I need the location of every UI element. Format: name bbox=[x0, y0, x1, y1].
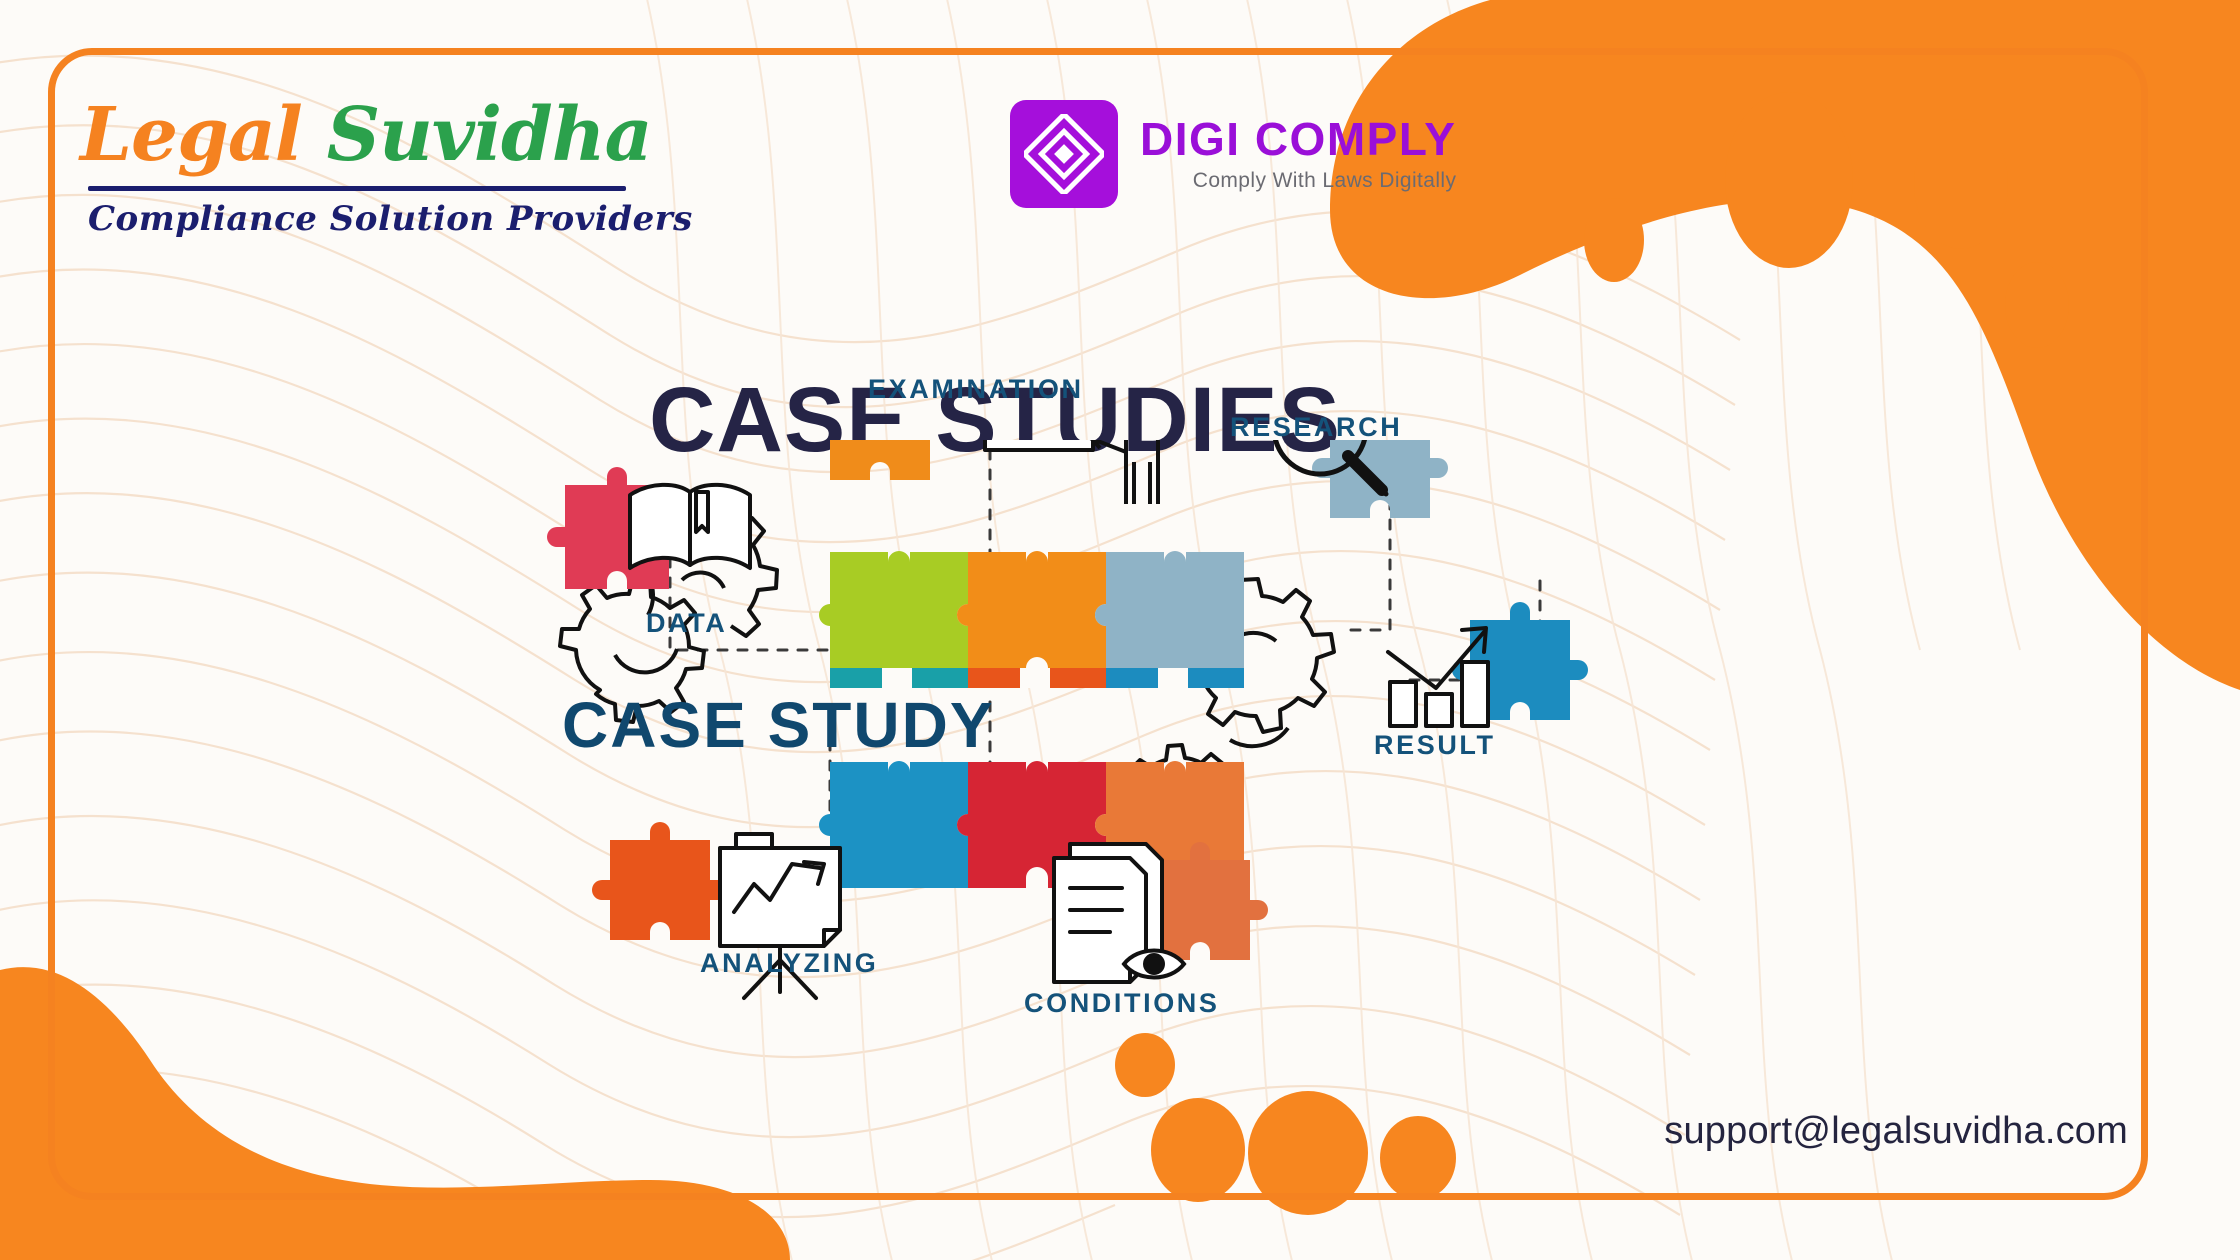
node-result bbox=[1388, 602, 1588, 726]
logo-word-suvidha: Suvidha bbox=[327, 92, 652, 178]
puzzle-steel bbox=[1095, 551, 1244, 678]
easel-chart-icon bbox=[720, 834, 840, 946]
presenter-board-icon bbox=[985, 440, 1178, 504]
node-label-result: RESULT bbox=[1374, 730, 1496, 761]
digi-comply-tagline: Comply With Laws Digitally bbox=[1140, 169, 1456, 193]
node-label-conditions: CONDITIONS bbox=[1024, 988, 1220, 1019]
digi-comply-mark bbox=[1010, 100, 1118, 208]
legal-suvidha-tagline: Compliance Solution Providers bbox=[88, 199, 640, 239]
digi-comply-name: DIGI COMPLY bbox=[1140, 115, 1456, 163]
legal-suvidha-logo: Legal Suvidha Compliance Solution Provid… bbox=[80, 98, 640, 239]
case-study-infographic: CASE STUDY DATA EXAMINATION RESEARCH RES… bbox=[530, 440, 1710, 1060]
puzzle-analyzing bbox=[592, 822, 728, 940]
node-research bbox=[1274, 440, 1448, 518]
puzzle-research bbox=[1312, 440, 1448, 518]
eye-icon bbox=[1124, 951, 1184, 978]
puzzle-examination bbox=[812, 440, 948, 480]
support-email: support@legalsuvidha.com bbox=[1664, 1110, 2128, 1153]
puzzle-lime bbox=[819, 551, 968, 678]
open-book-icon bbox=[630, 485, 750, 568]
bar-chart-arrow-icon bbox=[1390, 662, 1488, 726]
node-label-examination: EXAMINATION bbox=[868, 374, 1084, 405]
center-label: CASE STUDY bbox=[562, 688, 995, 762]
node-label-data: DATA bbox=[646, 608, 727, 639]
nested-diamond-icon bbox=[1024, 114, 1104, 194]
node-data bbox=[547, 467, 750, 589]
center-puzzle-top bbox=[819, 551, 1244, 688]
poster-canvas: Legal Suvidha Compliance Solution Provid… bbox=[0, 0, 2240, 1260]
logo-divider-rule bbox=[88, 186, 626, 191]
node-label-analyzing: ANALYZING bbox=[700, 948, 878, 979]
node-label-research: RESEARCH bbox=[1230, 412, 1402, 443]
legal-suvidha-wordmark: Legal Suvidha bbox=[80, 98, 640, 172]
node-conditions bbox=[1054, 842, 1268, 982]
node-examination bbox=[812, 440, 1178, 504]
puzzle-orange bbox=[957, 551, 1106, 678]
digi-comply-logo: DIGI COMPLY Comply With Laws Digitally bbox=[1010, 100, 1456, 208]
logo-word-legal: Legal bbox=[80, 92, 302, 178]
